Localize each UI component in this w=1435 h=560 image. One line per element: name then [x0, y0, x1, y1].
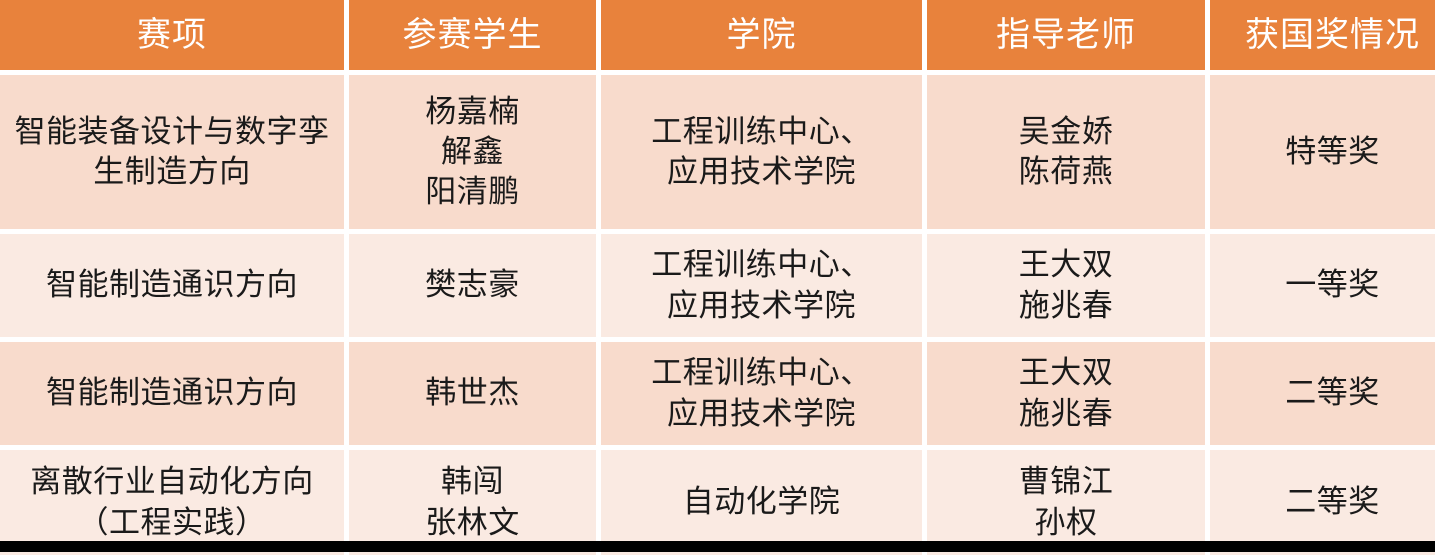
event-line: 离散行业自动化方向（工程实践）	[6, 462, 338, 543]
advisor-line: 吴金娇	[933, 112, 1199, 152]
advisor-line: 孙权	[933, 503, 1199, 543]
student-line: 韩闯	[355, 462, 590, 502]
college-line: 应用技术学院	[607, 286, 916, 326]
event-line: 智能装备设计与数字孪生制造方向	[6, 112, 338, 193]
cell-college: 工程训练中心、 应用技术学院	[601, 75, 922, 229]
cell-advisors: 曹锦江 孙权	[927, 450, 1205, 555]
cell-advisors: 王大双 施兆春	[927, 234, 1205, 337]
column-header-students: 参赛学生	[349, 0, 596, 70]
event-line: 智能制造通识方向	[6, 373, 338, 413]
advisor-line: 施兆春	[933, 394, 1199, 434]
cell-advisors: 吴金娇 陈荷燕	[927, 75, 1205, 229]
student-line: 解鑫	[355, 132, 590, 172]
cell-award: 特等奖	[1210, 75, 1435, 229]
column-header-award: 获国奖情况	[1210, 0, 1435, 70]
cell-advisors: 王大双 施兆春	[927, 342, 1205, 445]
cell-award: 二等奖	[1210, 342, 1435, 445]
event-line: 智能制造通识方向	[6, 265, 338, 305]
college-line: 工程训练中心、	[607, 245, 916, 285]
column-header-college: 学院	[601, 0, 922, 70]
cell-college: 工程训练中心、 应用技术学院	[601, 342, 922, 445]
cell-students: 韩世杰	[349, 342, 596, 445]
cell-event: 智能制造通识方向	[0, 342, 344, 445]
bottom-black-bar	[0, 541, 1435, 552]
cell-award: 一等奖	[1210, 234, 1435, 337]
cell-college: 工程训练中心、 应用技术学院	[601, 234, 922, 337]
column-header-advisors: 指导老师	[927, 0, 1205, 70]
cell-event: 智能装备设计与数字孪生制造方向	[0, 75, 344, 229]
table-body: 智能装备设计与数字孪生制造方向 杨嘉楠 解鑫 阳清鹏 工程训练中心、 应用技术学…	[0, 75, 1435, 555]
table-header: 赛项 参赛学生 学院 指导老师 获国奖情况	[0, 0, 1435, 70]
award-table-container: 赛项 参赛学生 学院 指导老师 获国奖情况 智能装备设计与数字孪生制造方向 杨嘉…	[0, 0, 1435, 552]
table-row: 离散行业自动化方向（工程实践） 韩闯 张林文 自动化学院 曹锦江 孙权 二等奖	[0, 450, 1435, 555]
college-line: 应用技术学院	[607, 152, 916, 192]
award-line: 二等奖	[1216, 373, 1435, 413]
cell-award: 二等奖	[1210, 450, 1435, 555]
advisor-line: 曹锦江	[933, 462, 1199, 502]
student-line: 张林文	[355, 503, 590, 543]
cell-event: 智能制造通识方向	[0, 234, 344, 337]
table-row: 智能制造通识方向 樊志豪 工程训练中心、 应用技术学院 王大双 施兆春 一等奖	[0, 234, 1435, 337]
cell-students: 杨嘉楠 解鑫 阳清鹏	[349, 75, 596, 229]
table-header-row: 赛项 参赛学生 学院 指导老师 获国奖情况	[0, 0, 1435, 70]
advisor-line: 王大双	[933, 245, 1199, 285]
competition-awards-table: 赛项 参赛学生 学院 指导老师 获国奖情况 智能装备设计与数字孪生制造方向 杨嘉…	[0, 0, 1435, 560]
college-line: 应用技术学院	[607, 394, 916, 434]
college-line: 工程训练中心、	[607, 353, 916, 393]
cell-college: 自动化学院	[601, 450, 922, 555]
student-line: 韩世杰	[355, 373, 590, 413]
cell-event: 离散行业自动化方向（工程实践）	[0, 450, 344, 555]
award-line: 二等奖	[1216, 482, 1435, 522]
column-header-event: 赛项	[0, 0, 344, 70]
table-row: 智能制造通识方向 韩世杰 工程训练中心、 应用技术学院 王大双 施兆春 二等奖	[0, 342, 1435, 445]
student-line: 樊志豪	[355, 265, 590, 305]
cell-students: 樊志豪	[349, 234, 596, 337]
advisor-line: 施兆春	[933, 286, 1199, 326]
college-line: 工程训练中心、	[607, 112, 916, 152]
student-line: 阳清鹏	[355, 172, 590, 212]
award-line: 一等奖	[1216, 265, 1435, 305]
award-line: 特等奖	[1216, 132, 1435, 172]
table-row: 智能装备设计与数字孪生制造方向 杨嘉楠 解鑫 阳清鹏 工程训练中心、 应用技术学…	[0, 75, 1435, 229]
college-line: 自动化学院	[607, 482, 916, 522]
advisor-line: 陈荷燕	[933, 152, 1199, 192]
advisor-line: 王大双	[933, 353, 1199, 393]
cell-students: 韩闯 张林文	[349, 450, 596, 555]
student-line: 杨嘉楠	[355, 92, 590, 132]
